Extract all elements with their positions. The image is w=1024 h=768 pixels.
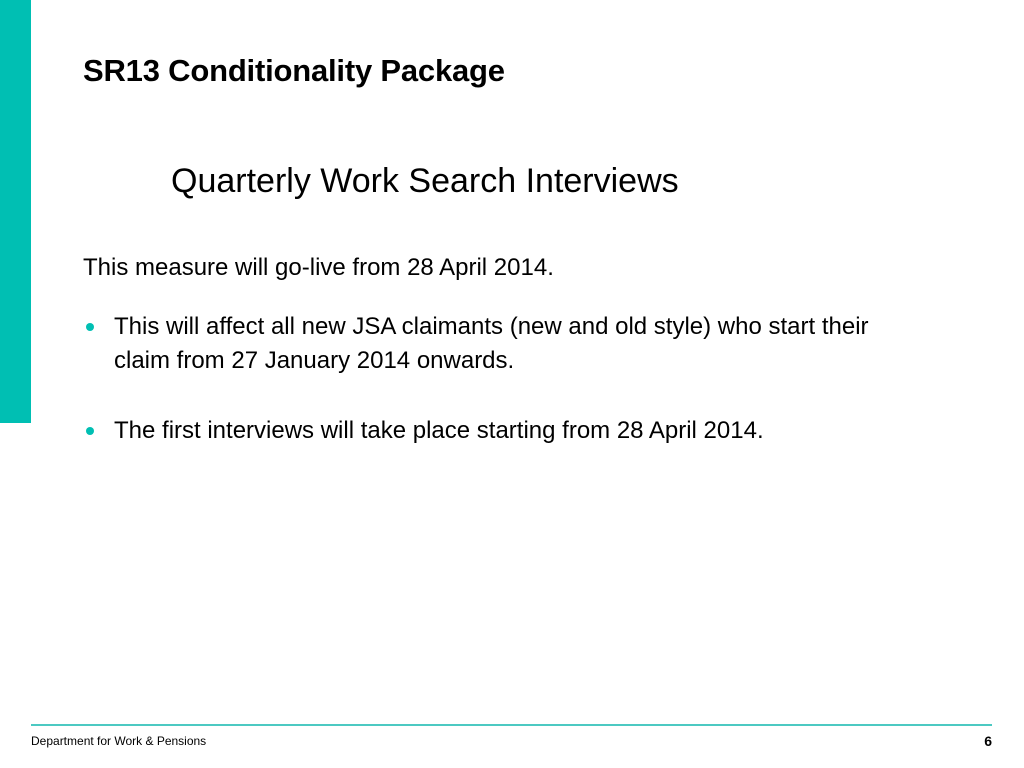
slide-subtitle: Quarterly Work Search Interviews	[171, 160, 679, 202]
presentation-slide: SR13 Conditionality Package Quarterly Wo…	[0, 0, 1024, 768]
footer-divider	[31, 724, 992, 726]
spacer	[83, 284, 963, 310]
slide-body: This measure will go-live from 28 April …	[83, 252, 963, 448]
bullet-dot-icon	[86, 323, 94, 331]
left-accent-bar	[0, 0, 31, 423]
list-item-label: This will affect all new JSA claimants (…	[114, 310, 904, 378]
list-item-label: The first interviews will take place sta…	[114, 414, 904, 448]
bullet-dot-icon	[86, 427, 94, 435]
spacer	[83, 378, 963, 414]
page-number: 6	[962, 732, 992, 750]
footer-organisation: Department for Work & Pensions	[31, 733, 206, 749]
list-item: This will affect all new JSA claimants (…	[83, 310, 963, 378]
bullet-list: This will affect all new JSA claimants (…	[83, 310, 963, 448]
list-item: The first interviews will take place sta…	[83, 414, 963, 448]
intro-paragraph: This measure will go-live from 28 April …	[83, 252, 963, 284]
slide-title: SR13 Conditionality Package	[83, 52, 505, 90]
